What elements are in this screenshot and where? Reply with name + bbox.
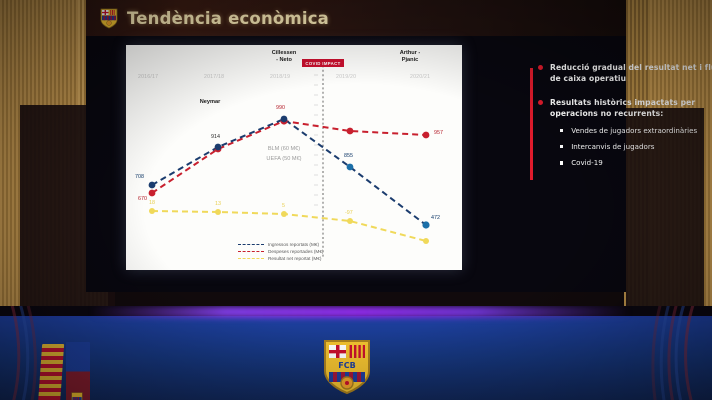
- value-income-3: 855: [344, 153, 353, 159]
- stage-backdrop: FCB: [0, 306, 712, 400]
- legend-label-expenses: Despeses reportades (M€): [268, 249, 324, 254]
- square-bullet-icon: [560, 129, 563, 132]
- chart-legend: Ingressos reportats (M€) Despeses report…: [238, 241, 324, 262]
- slide-title-bar: Tendència econòmica: [86, 0, 626, 36]
- presentation-screen: Tendència econòmica: [86, 0, 626, 292]
- annotation-neymar: Neymar: [188, 99, 232, 106]
- sub-bullet-text-2: Intercanvis de jugadors: [571, 142, 654, 151]
- annotation-blm: BLM (60 M€): [246, 145, 322, 153]
- legend-item-income: Ingressos reportats (M€): [238, 241, 324, 248]
- value-net-2: 5: [282, 203, 285, 209]
- bullet-item-1: Reducció gradual del resultat net i flux…: [538, 62, 712, 84]
- x-tick-2: 2018/19: [270, 74, 290, 80]
- legend-label-income: Ingressos reportats (M€): [268, 242, 319, 247]
- slide-canvas: Tendència econòmica: [86, 0, 626, 292]
- svg-text:FCB: FCB: [338, 361, 355, 370]
- value-income-0: 708: [135, 174, 144, 180]
- fcb-crest-icon: FCB: [322, 338, 372, 396]
- x-tick-1: 2017/18: [204, 74, 224, 80]
- flag-crest-icon: [70, 392, 84, 400]
- legend-swatch-net: [238, 258, 264, 259]
- catalan-flag-icon: [38, 344, 64, 400]
- legend-item-expenses: Despeses reportades (M€): [238, 248, 324, 255]
- backdrop-arcs-left: [0, 306, 130, 400]
- slide-bullet-list: Reducció gradual del resultat net i flux…: [538, 62, 712, 175]
- value-net-1: 13: [215, 201, 221, 207]
- legend-item-net: Resultat net reportat (M€): [238, 255, 324, 262]
- value-income-1: 914: [211, 134, 220, 140]
- square-bullet-icon: [560, 145, 563, 148]
- legend-swatch-expenses: [238, 251, 264, 252]
- slide-title: Tendència econòmica: [127, 9, 329, 28]
- economic-trend-chart: 2016/17 2017/18 2018/19 2019/20 2020/21 …: [126, 45, 462, 270]
- value-net-0: 18: [149, 200, 155, 206]
- value-net-3: -97: [345, 210, 353, 216]
- value-expense-4: 957: [434, 130, 443, 136]
- fcb-crest-icon: [100, 8, 118, 29]
- bullet-text-2: Resultats històrics impactats per operac…: [550, 97, 712, 119]
- square-bullet-icon: [560, 161, 563, 164]
- value-expense-0: 670: [138, 196, 147, 202]
- red-accent-bar: [530, 68, 533, 180]
- legend-label-net: Resultat net reportat (M€): [268, 256, 321, 261]
- photo-scene: Tendència econòmica: [0, 0, 712, 400]
- sub-bullet-text-1: Vendes de jugadors extraordinàries: [571, 126, 697, 135]
- sub-bullet-item: Covid-19: [560, 158, 712, 167]
- value-income-4: 472: [431, 215, 440, 221]
- sub-bullet-item: Vendes de jugadors extraordinàries: [560, 126, 712, 135]
- sub-bullet-text-3: Covid-19: [571, 158, 603, 167]
- value-peak: 990: [276, 105, 285, 111]
- annotation-arthur-pjanic: Arthur - Pjanic: [382, 50, 438, 64]
- sub-bullet-item: Intercanvis de jugadors: [560, 142, 712, 151]
- sub-bullet-list: Vendes de jugadors extraordinàries Inter…: [560, 126, 712, 168]
- annotation-uefa: UEFA (50 M€): [246, 155, 322, 163]
- backdrop-arcs-right: [462, 306, 712, 400]
- x-tick-0: 2016/17: [138, 74, 158, 80]
- x-tick-4: 2020/21: [410, 74, 430, 80]
- bullet-text-1: Reducció gradual del resultat net i flux…: [550, 62, 712, 84]
- bullet-dot-icon: [538, 65, 543, 70]
- legend-swatch-income: [238, 244, 264, 245]
- bullet-dot-icon: [538, 100, 543, 105]
- x-tick-3: 2019/20: [336, 74, 356, 80]
- covid-impact-badge: COVID IMPACT: [302, 59, 344, 67]
- bullet-item-2: Resultats històrics impactats per operac…: [538, 97, 712, 119]
